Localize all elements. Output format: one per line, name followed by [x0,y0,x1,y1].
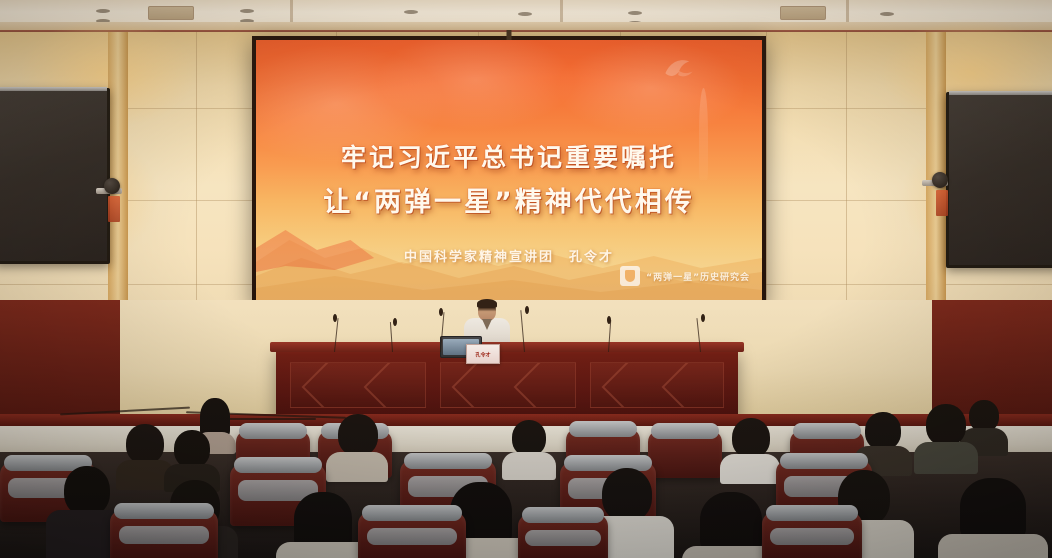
presentation-slide: 牢记习近平总书记重要嘱托 让“两弹一星”精神代代相传 中国科学家精神宣讲团 孔令… [256,40,762,302]
torso [914,442,978,474]
microphone-head-icon [439,308,443,316]
seat-headrest [766,505,858,521]
left-wall-display[interactable] [0,88,110,264]
seat-headrest [114,503,213,519]
auditorium-photo: 牢记习近平总书记重要嘱托 让“两弹一星”精神代代相传 中国科学家精神宣讲团 孔令… [0,0,1052,558]
audience-member [54,466,116,558]
downlight-icon [628,11,642,15]
audience-member [120,424,168,484]
ceiling-vent-icon [780,6,826,20]
auditorium-seat [110,510,218,558]
audience-member [918,404,970,470]
torso [720,454,780,484]
head [865,412,901,450]
head [602,468,652,522]
cloud-texture [556,40,746,136]
torso [502,452,556,480]
microphone-head-icon [333,314,337,322]
downlight-icon [240,9,254,13]
slide-logo-text: “两弹一星”历史研究会 [646,270,750,283]
microphone-head-icon [393,318,397,326]
audience-member [690,492,770,558]
projection-screen: 牢记习近平总书记重要嘱托 让“两弹一星”精神代代相传 中国科学家精神宣讲团 孔令… [252,36,766,306]
seat-headrest [522,507,605,523]
audience-member [170,430,214,486]
table-panel [590,362,724,408]
seat-headrest [793,423,861,439]
hair [960,478,1026,540]
wall-speaker-icon [932,172,948,188]
ceiling [0,0,1052,32]
ceiling-vent-icon [148,6,194,20]
torch-emblem-icon [620,266,640,286]
wall-alarm-box [108,196,120,222]
head [174,430,210,468]
presenter-nameplate: 孔令才 [466,344,500,364]
microphone-head-icon [701,314,705,322]
slide-logo: “两弹一星”历史研究会 [620,266,750,286]
seat-headrest [239,423,307,439]
head [512,420,546,456]
wall-speaker-icon [104,178,120,194]
torso [938,534,1048,558]
table-top-edge [270,342,744,352]
seat-headrest [780,453,868,469]
head [926,404,966,446]
table-panel [290,362,426,408]
wall-panel-seam [766,284,1052,285]
hair [700,492,762,552]
nameplate-text: 孔令才 [475,350,490,358]
seat-headrest [569,421,637,437]
table-panel [440,362,576,408]
dove-silhouette-icon [662,56,696,82]
seat-back-pad [367,528,458,545]
microphone-head-icon [525,306,529,314]
presenter-hair [477,299,497,308]
audience-member [726,418,774,478]
seat-back-pad [525,530,601,546]
seat-headrest [362,505,461,521]
right-wall-display[interactable] [946,92,1052,268]
slide-subtitle: 中国科学家精神宣讲团 孔令才 [256,246,762,265]
speakers-table [276,348,738,420]
screen-mount [507,30,512,40]
torso [326,452,388,482]
slide-title-line-2: 让“两弹一星”精神代代相传 [256,180,762,219]
floor-cable [226,418,316,420]
audience-member [508,420,550,476]
downlight-icon [880,12,894,16]
wall-alarm-box [936,190,948,216]
slide-title-line-1: 牢记习近平总书记重要嘱托 [256,138,762,174]
downlight-icon [404,10,418,14]
seat-headrest [651,423,719,439]
downlight-icon [518,12,532,16]
seat-back-pad [770,528,854,545]
seat-headrest [234,457,322,473]
seat-headrest [404,453,492,469]
microphone-head-icon [607,316,611,324]
seat-back-pad [119,526,210,544]
downlight-icon [96,9,110,13]
auditorium-seat [518,514,608,558]
head [338,414,378,456]
head [64,466,110,516]
head [126,424,164,464]
audience-member [330,414,382,476]
audience-member [286,492,360,558]
auditorium-seat [358,512,466,558]
audience-member [946,478,1036,558]
auditorium-seat [762,512,862,558]
head [732,418,770,458]
